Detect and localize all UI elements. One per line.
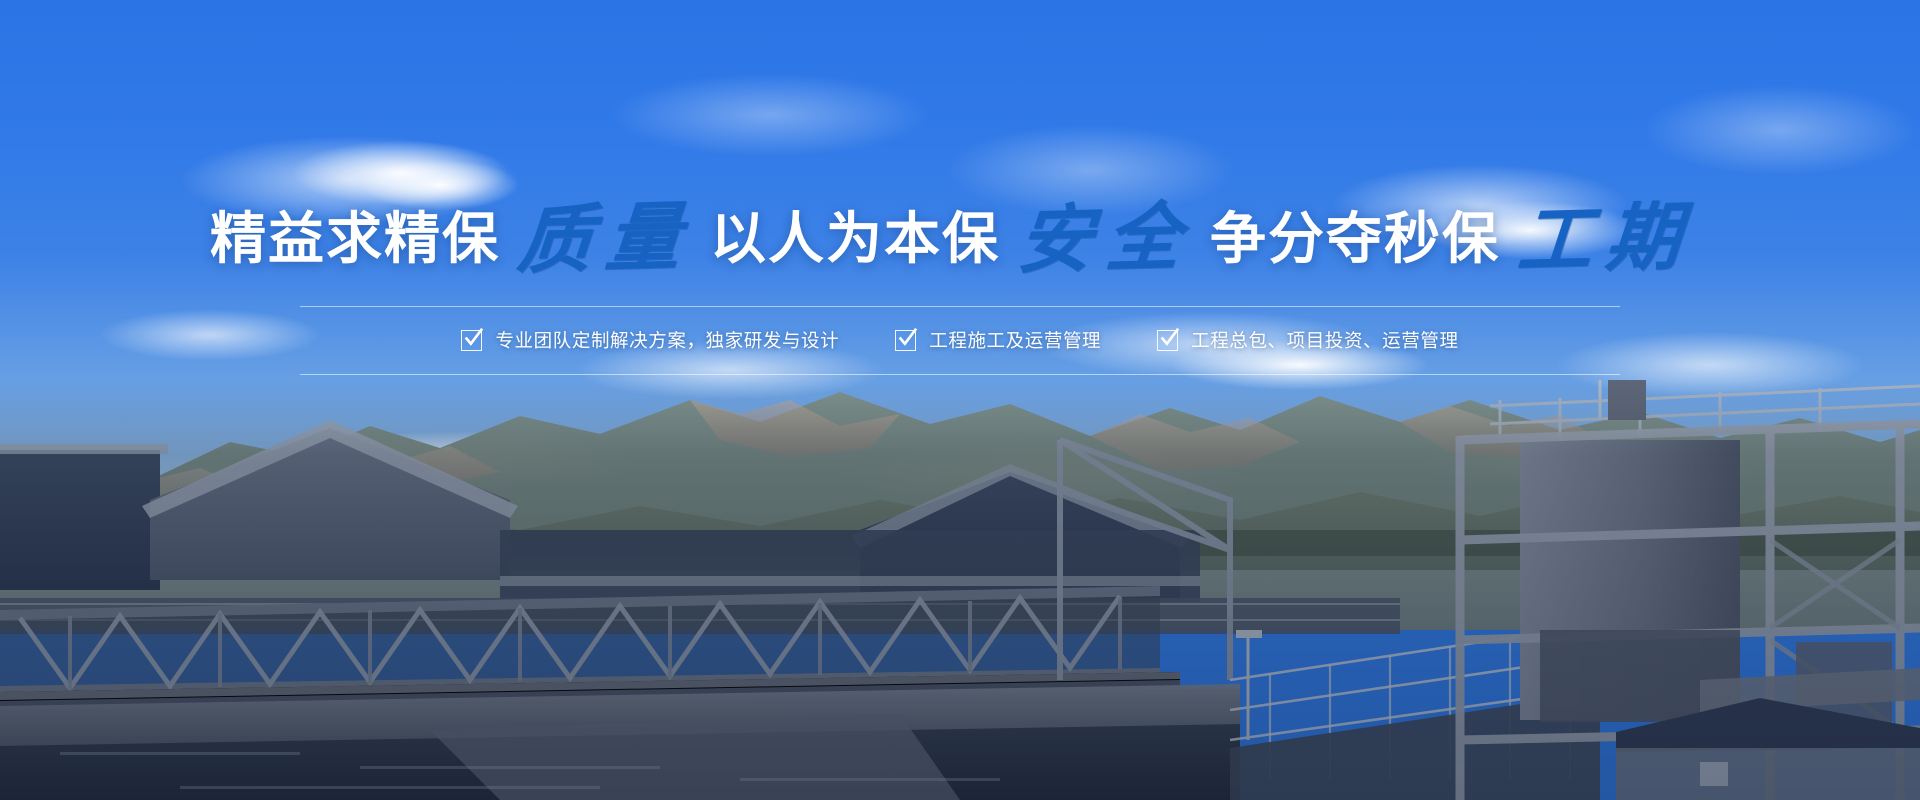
plant-building-right <box>500 464 1200 602</box>
feature-label: 工程施工及运营管理 <box>929 327 1101 353</box>
headline-segment-safety-brush: 安全 <box>1015 200 1197 279</box>
banner-content: 精益求精保 质量 以人为本保 安全 争分夺秒保 工期 专业团队定制解决方案，独家… <box>0 196 1920 375</box>
checkbox-checked-icon <box>461 330 482 351</box>
feature-item-construction-operation: 工程施工及运营管理 <box>895 327 1101 353</box>
headline-segment-quality-prefix: 精益求精保 <box>210 206 500 272</box>
cloud-shape <box>560 60 980 170</box>
water-treatment-plant <box>0 380 1920 800</box>
headline-segment-safety-prefix: 以人为本保 <box>710 206 1000 272</box>
hero-banner: 精益求精保 质量 以人为本保 安全 争分夺秒保 工期 专业团队定制解决方案，独家… <box>0 0 1920 800</box>
headline-segment-quality-brush: 质量 <box>515 200 697 279</box>
headline-segment-schedule-prefix: 争分夺秒保 <box>1210 206 1500 272</box>
feature-list: 专业团队定制解决方案，独家研发与设计 工程施工及运营管理 工程总包、项目投资、运… <box>300 306 1620 375</box>
cloud-shape <box>1600 70 1920 190</box>
checkbox-checked-icon <box>1157 330 1178 351</box>
feature-label: 工程总包、项目投资、运营管理 <box>1191 327 1458 353</box>
headline-segment-schedule-brush: 工期 <box>1515 200 1697 279</box>
headline: 精益求精保 质量 以人为本保 安全 争分夺秒保 工期 <box>210 196 1710 272</box>
feature-item-epc-investment: 工程总包、项目投资、运营管理 <box>1157 327 1458 353</box>
feature-item-solution-design: 专业团队定制解决方案，独家研发与设计 <box>461 327 839 353</box>
feature-label: 专业团队定制解决方案，独家研发与设计 <box>495 327 839 353</box>
checkbox-checked-icon <box>895 330 916 351</box>
plant-building-left <box>0 420 518 590</box>
